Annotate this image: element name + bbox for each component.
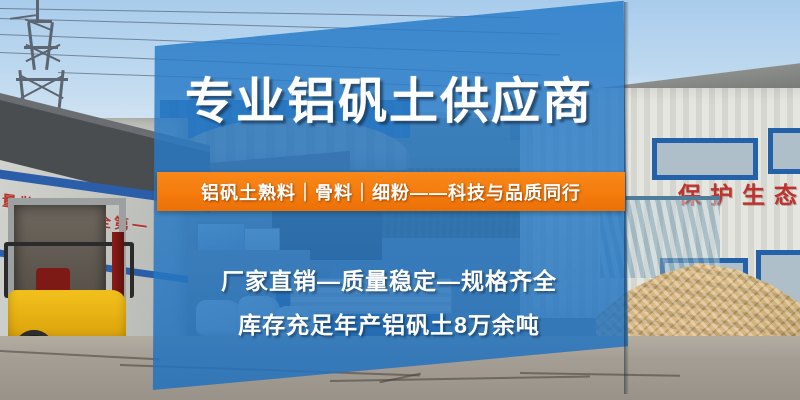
banner-image: 质量监督 安全第一 保护生态 xyxy=(0,0,800,400)
banner-headline: 专业铝矾土供应商 xyxy=(150,78,628,127)
banner-text-block: 专业铝矾土供应商 铝矾土熟料｜骨料｜细粉——科技与品质同行 厂家直销—质量稳定—… xyxy=(150,0,628,400)
window xyxy=(768,128,800,174)
banner-subline-2: 库存充足年产铝矾土8万余吨 xyxy=(150,306,628,340)
banner-subline-1: 厂家直销—质量稳定—规格齐全 xyxy=(150,262,628,296)
tagline-bar: 铝矾土熟料｜骨料｜细粉——科技与品质同行 xyxy=(157,172,625,211)
window xyxy=(652,138,758,180)
tagline-text: 铝矾土熟料｜骨料｜细粉——科技与品质同行 xyxy=(201,179,581,205)
